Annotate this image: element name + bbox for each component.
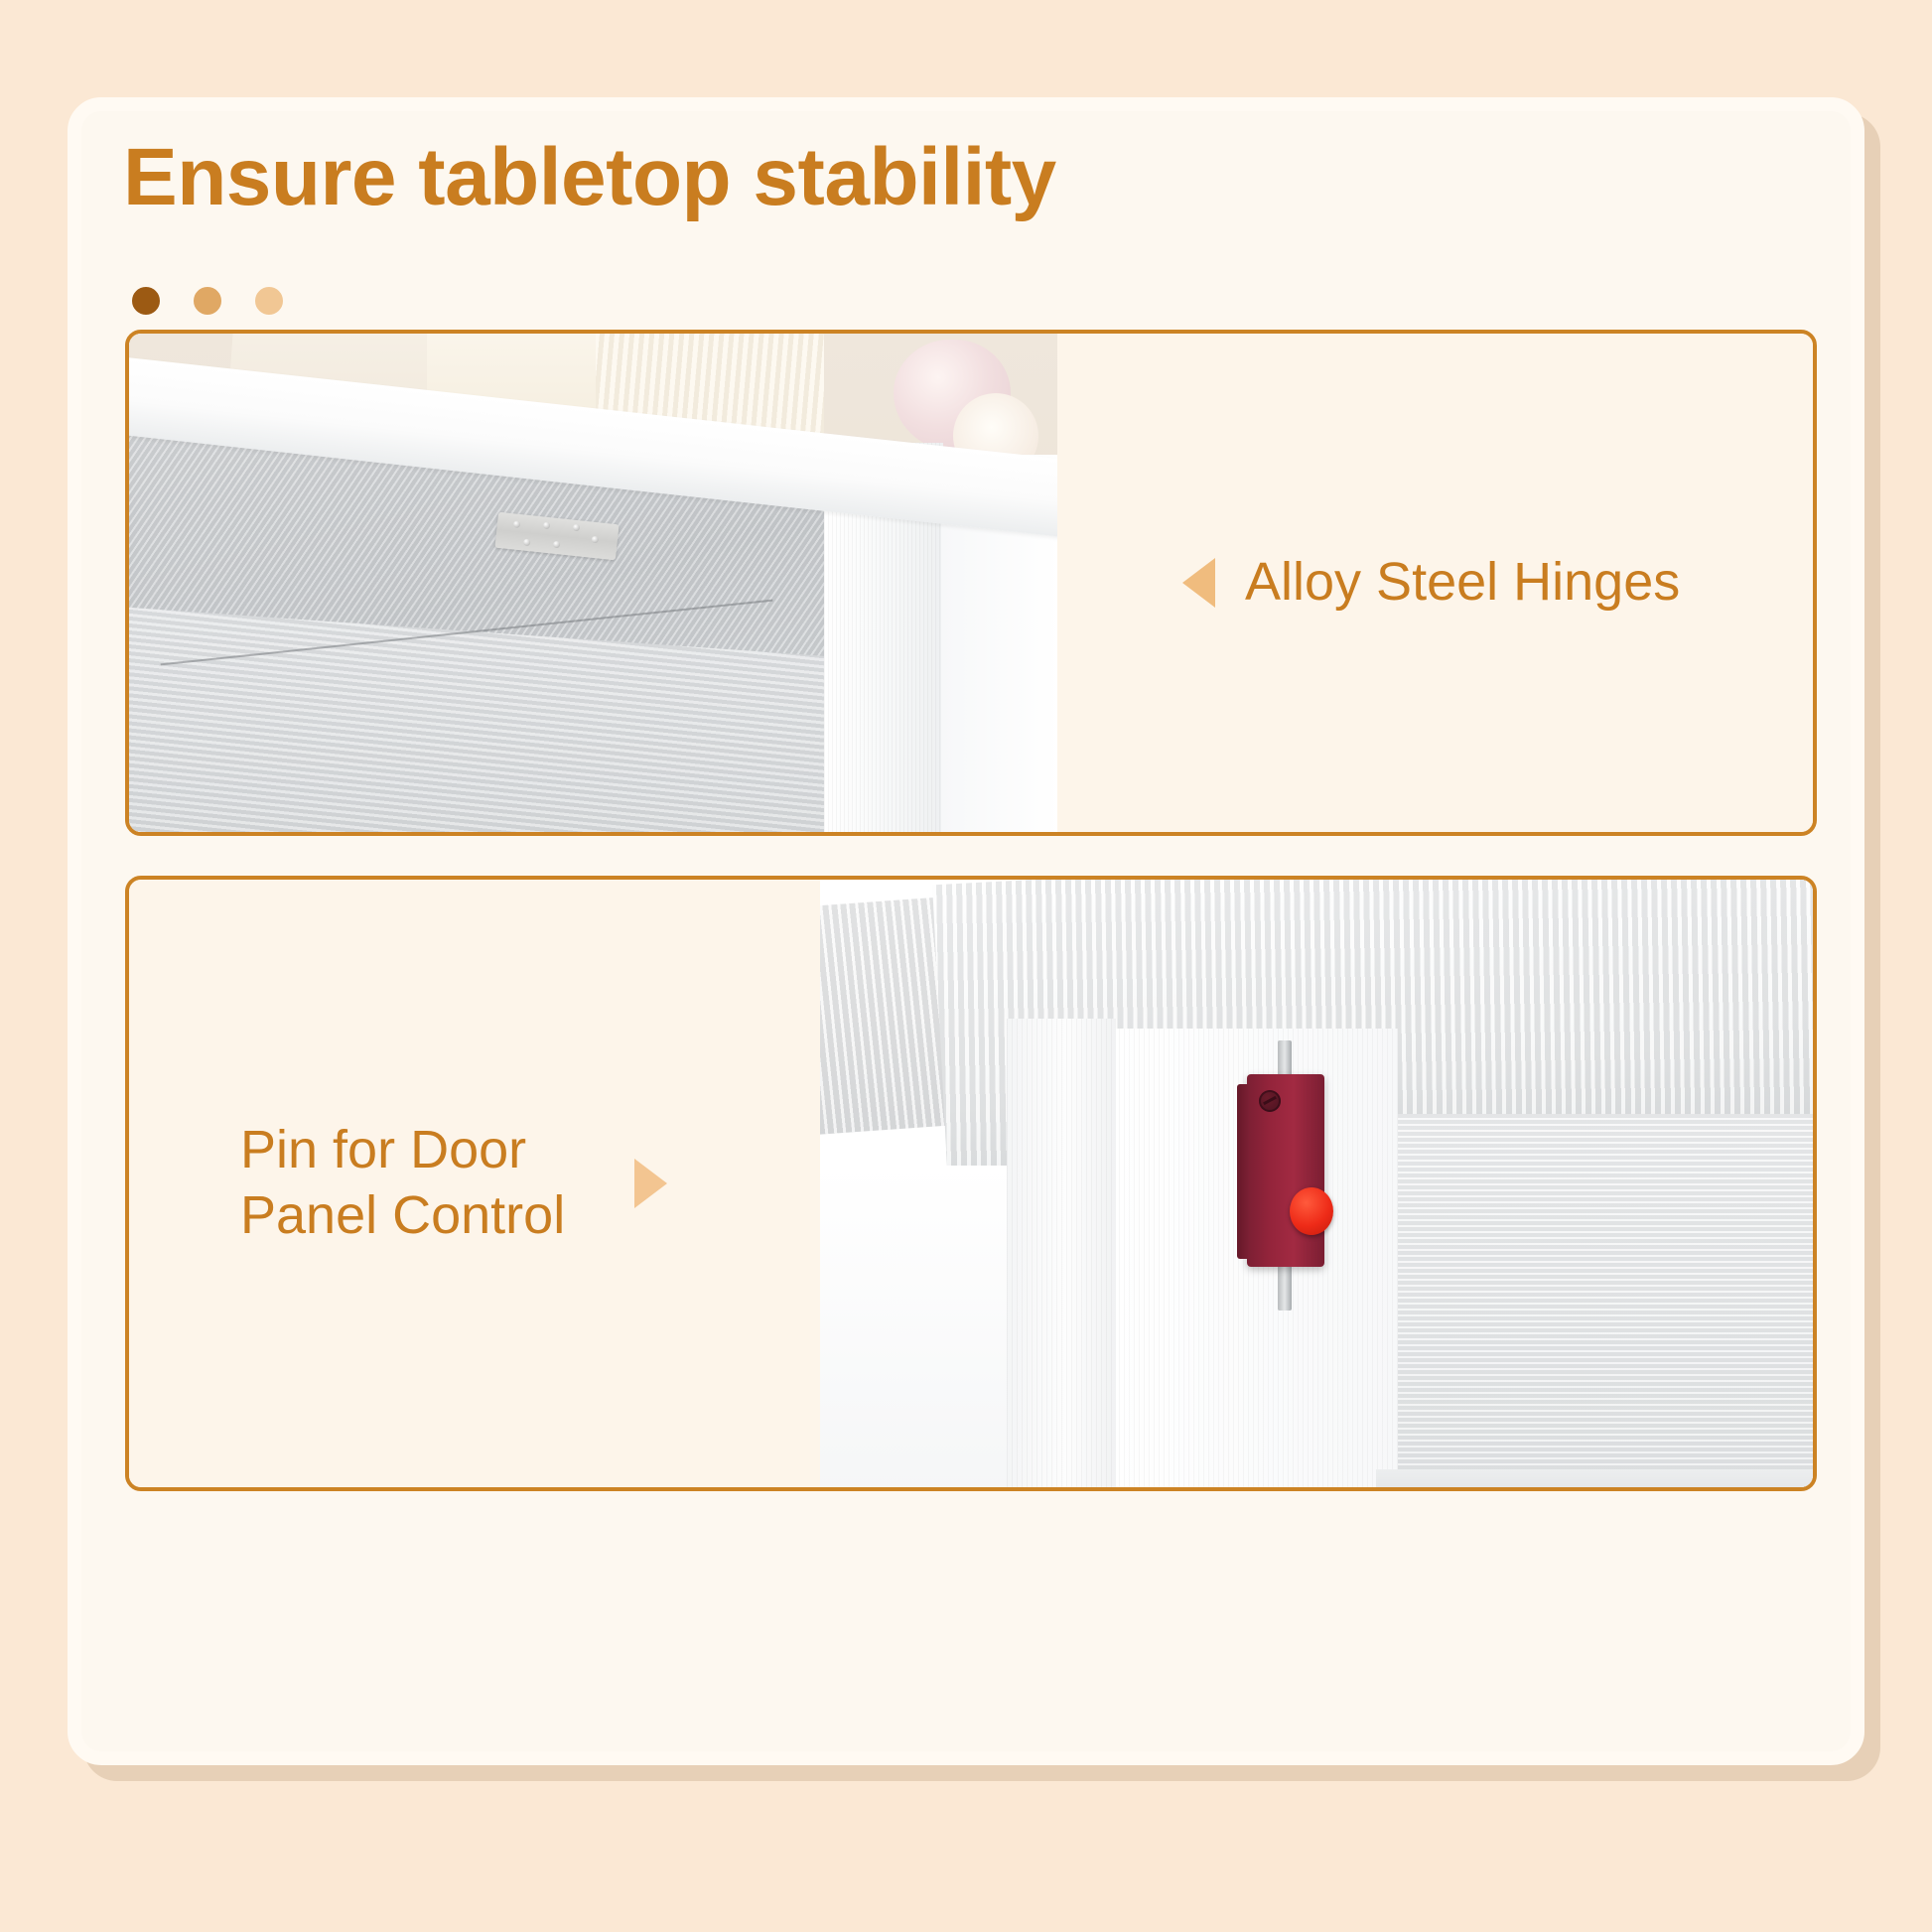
pin-photo	[820, 880, 1813, 1487]
pin-release-button	[1290, 1187, 1333, 1235]
cabinet-back-panel	[1396, 1114, 1813, 1487]
carousel-dots[interactable]	[127, 282, 288, 320]
hinge-caption-row: Alloy Steel Hinges	[1182, 550, 1680, 616]
arrow-right-icon	[634, 1159, 667, 1208]
carousel-dot-2[interactable]	[189, 282, 226, 320]
cabinet-door-left	[820, 1166, 1019, 1487]
carousel-dot-1[interactable]	[127, 282, 165, 320]
pin-caption-text: Pin for Door Panel Control	[240, 1118, 565, 1249]
pin-rod-bottom	[1278, 1261, 1292, 1311]
hinge-caption-text: Alloy Steel Hinges	[1245, 550, 1680, 616]
pin-screw	[1259, 1090, 1281, 1112]
pin-caption-area: Pin for Door Panel Control	[129, 880, 820, 1487]
page-title: Ensure tabletop stability	[123, 135, 1056, 220]
hinge-caption-area: Alloy Steel Hinges	[1057, 334, 1813, 832]
cabinet-post-front	[1007, 1019, 1116, 1487]
content-card: Ensure tabletop stability	[68, 97, 1864, 1765]
carousel-dot-3[interactable]	[250, 282, 288, 320]
panel-hinges: Alloy Steel Hinges	[125, 330, 1817, 836]
arrow-left-icon	[1182, 558, 1215, 608]
hinge-photo	[129, 334, 1057, 832]
panel-pin: Pin for Door Panel Control	[125, 876, 1817, 1491]
cabinet-floor	[1376, 1469, 1813, 1487]
pin-caption-row: Pin for Door Panel Control	[240, 1118, 667, 1249]
page-root: Ensure tabletop stability	[0, 0, 1932, 1932]
